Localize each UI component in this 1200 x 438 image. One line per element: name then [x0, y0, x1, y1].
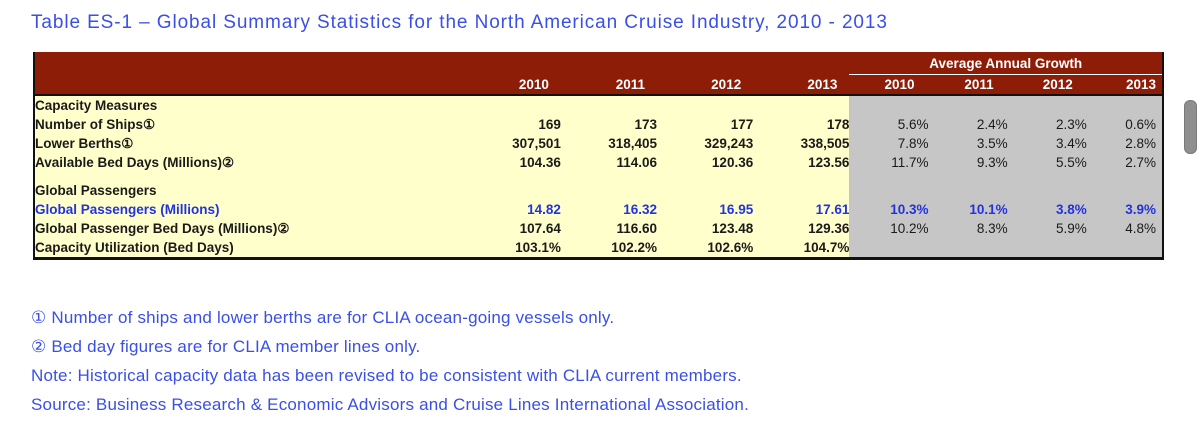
section-heading-blank — [465, 181, 561, 200]
cell-value: 338,505 — [753, 134, 849, 153]
section-heading-blank — [1008, 181, 1087, 200]
table-body: Capacity Measures Number of Ships① 169 1… — [34, 95, 1163, 259]
cell-growth: 3.9% — [1087, 200, 1163, 219]
cell-value: 307,501 — [465, 134, 561, 153]
cell-value: 16.95 — [657, 200, 753, 219]
table-row: Number of Ships① 169 173 177 178 5.6% 2.… — [34, 115, 1163, 134]
section-heading-blank — [753, 181, 849, 200]
cell-value: 104.36 — [465, 153, 561, 172]
section-heading-row: Capacity Measures — [34, 95, 1163, 115]
section-heading-blank — [1008, 95, 1087, 115]
cell-growth: 5.5% — [1008, 153, 1087, 172]
cell-growth: 2.4% — [929, 115, 1008, 134]
summary-statistics-table: Average Annual Growth 2010 2011 2012 201… — [33, 52, 1164, 260]
spacer-cell — [34, 172, 465, 181]
cell-value: 102.6% — [657, 238, 753, 259]
section-heading-blank — [849, 181, 928, 200]
header-year-2013: 2013 — [753, 75, 849, 96]
cell-value: 178 — [753, 115, 849, 134]
footnote-2: ② Bed day figures are for CLIA member li… — [31, 332, 1151, 361]
row-label-global-passenger-bed-days: Global Passenger Bed Days (Millions)② — [34, 219, 465, 238]
row-label-available-bed-days: Available Bed Days (Millions)② — [34, 153, 465, 172]
cell-growth: 0.6% — [1087, 115, 1163, 134]
section-heading-blank — [929, 95, 1008, 115]
section-heading-blank — [465, 95, 561, 115]
spacer-cell — [657, 172, 753, 181]
section-heading-blank — [929, 181, 1008, 200]
section-heading-row: Global Passengers — [34, 181, 1163, 200]
cell-growth: 11.7% — [849, 153, 928, 172]
cell-growth: 4.8% — [1087, 219, 1163, 238]
cell-value: 123.56 — [753, 153, 849, 172]
note-line: Note: Historical capacity data has been … — [31, 361, 1151, 390]
section-heading-global-passengers: Global Passengers — [34, 181, 465, 200]
header-growth-2013: 2013 — [1087, 75, 1163, 96]
section-heading-capacity-measures: Capacity Measures — [34, 95, 465, 115]
section-heading-blank — [561, 181, 657, 200]
cell-value: 102.2% — [561, 238, 657, 259]
section-heading-blank — [657, 95, 753, 115]
cell-value: 173 — [561, 115, 657, 134]
cell-value: 16.32 — [561, 200, 657, 219]
cell-growth: 10.2% — [849, 219, 928, 238]
cell-growth: 2.7% — [1087, 153, 1163, 172]
cell-growth: 3.5% — [929, 134, 1008, 153]
section-spacer — [34, 172, 1163, 181]
cell-growth: 8.3% — [929, 219, 1008, 238]
spacer-cell — [1008, 172, 1087, 181]
cell-value: 169 — [465, 115, 561, 134]
cell-value: 318,405 — [561, 134, 657, 153]
cell-value: 120.36 — [657, 153, 753, 172]
spacer-cell — [753, 172, 849, 181]
cell-value: 177 — [657, 115, 753, 134]
cell-value: 104.7% — [753, 238, 849, 259]
row-label-lower-berths: Lower Berths① — [34, 134, 465, 153]
cell-growth: 10.3% — [849, 200, 928, 219]
table-row: Lower Berths① 307,501 318,405 329,243 33… — [34, 134, 1163, 153]
cell-value: 123.48 — [657, 219, 753, 238]
row-label-global-passengers-millions: Global Passengers (Millions) — [34, 200, 465, 219]
section-heading-blank — [657, 181, 753, 200]
cell-growth: 10.1% — [929, 200, 1008, 219]
table-row: Available Bed Days (Millions)② 104.36 11… — [34, 153, 1163, 172]
table-row: Capacity Utilization (Bed Days) 103.1% 1… — [34, 238, 1163, 259]
cell-growth: 7.8% — [849, 134, 928, 153]
table-row: Global Passenger Bed Days (Millions)② 10… — [34, 219, 1163, 238]
header-average-annual-growth: Average Annual Growth — [849, 52, 1163, 75]
header-year-2012: 2012 — [657, 75, 753, 96]
section-heading-blank — [561, 95, 657, 115]
cell-growth: 9.3% — [929, 153, 1008, 172]
cell-growth: 2.8% — [1087, 134, 1163, 153]
spacer-cell — [849, 172, 928, 181]
header-year-2010: 2010 — [465, 75, 561, 96]
section-heading-blank — [1087, 95, 1163, 115]
cell-value: 329,243 — [657, 134, 753, 153]
section-heading-blank — [1087, 181, 1163, 200]
table-notes: ① Number of ships and lower berths are f… — [31, 303, 1151, 419]
spacer-cell — [929, 172, 1008, 181]
cell-value: 107.64 — [465, 219, 561, 238]
cell-growth: 5.6% — [849, 115, 928, 134]
spacer-cell — [465, 172, 561, 181]
cell-value: 129.36 — [753, 219, 849, 238]
table-header: Average Annual Growth 2010 2011 2012 201… — [34, 52, 1163, 95]
cell-value: 14.82 — [465, 200, 561, 219]
cell-growth — [849, 238, 928, 259]
cell-value: 103.1% — [465, 238, 561, 259]
header-group-row: Average Annual Growth — [34, 52, 1163, 75]
source-line: Source: Business Research & Economic Adv… — [31, 390, 1151, 419]
cell-growth — [929, 238, 1008, 259]
cell-growth: 3.8% — [1008, 200, 1087, 219]
footnote-1: ① Number of ships and lower berths are f… — [31, 303, 1151, 332]
section-heading-blank — [753, 95, 849, 115]
header-growth-2010: 2010 — [849, 75, 928, 96]
vertical-scrollbar-thumb[interactable] — [1184, 100, 1197, 154]
cell-value: 116.60 — [561, 219, 657, 238]
cell-growth — [1008, 238, 1087, 259]
cell-growth: 5.9% — [1008, 219, 1087, 238]
table-row: Global Passengers (Millions) 14.82 16.32… — [34, 200, 1163, 219]
header-label-blank — [34, 75, 465, 96]
spacer-cell — [561, 172, 657, 181]
section-heading-blank — [849, 95, 928, 115]
header-spacer — [34, 52, 465, 75]
header-year-2011: 2011 — [561, 75, 657, 96]
header-spacer-years — [465, 52, 850, 75]
cell-value: 17.61 — [753, 200, 849, 219]
cell-growth — [1087, 238, 1163, 259]
cell-growth: 3.4% — [1008, 134, 1087, 153]
cell-value: 114.06 — [561, 153, 657, 172]
row-label-number-of-ships: Number of Ships① — [34, 115, 465, 134]
row-label-capacity-utilization: Capacity Utilization (Bed Days) — [34, 238, 465, 259]
header-growth-2011: 2011 — [929, 75, 1008, 96]
page-title: Table ES-1 – Global Summary Statistics f… — [31, 12, 888, 34]
spacer-cell — [1087, 172, 1163, 181]
header-year-row: 2010 2011 2012 2013 2010 2011 2012 2013 — [34, 75, 1163, 96]
cell-growth: 2.3% — [1008, 115, 1087, 134]
header-growth-2012: 2012 — [1008, 75, 1087, 96]
